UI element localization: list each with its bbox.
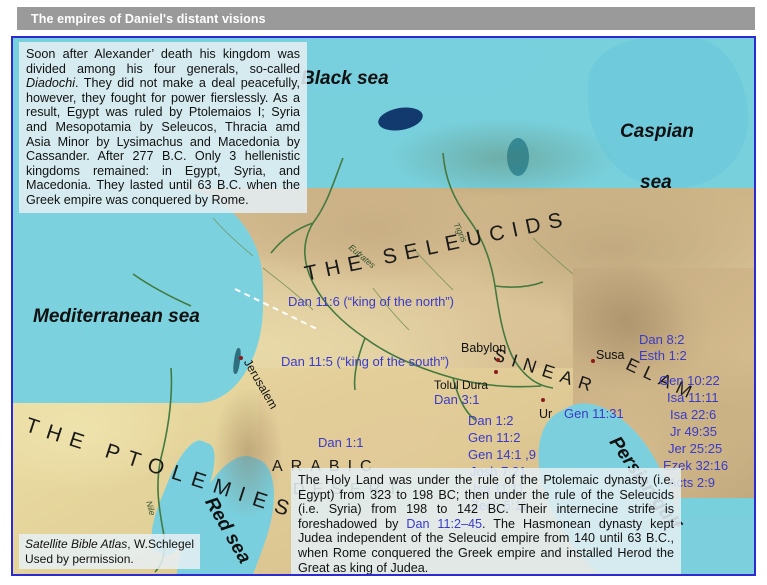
label-city-babylon: Babylon [461, 341, 506, 355]
label-caspian-sea: Caspian [620, 121, 694, 143]
window-titlebar: The empires of Daniel's distant visions [17, 7, 755, 30]
window-title: The empires of Daniel's distant visions [17, 12, 266, 26]
label-city-ur: Ur [539, 407, 552, 421]
map-canvas: Black sea Caspian sea Mediterranean sea … [13, 38, 754, 574]
map-credit-line2: Used by permission. [25, 552, 194, 567]
ref-elam-4: Jer 25:25 [668, 441, 722, 456]
infobox-holy-land: The Holy Land was under the rule of the … [291, 468, 681, 574]
terrain-taurus-shading [343, 98, 663, 218]
ref-sinear-1: Gen 11:2 [468, 430, 521, 445]
infobox-diadochi-text-2: . They did not make a deal peacefully, h… [26, 76, 300, 207]
ref-elam-1: Isa 11:11 [667, 390, 719, 405]
city-dot-ur [541, 398, 545, 402]
map-credit: Satellite Bible Atlas, W.Schlegel Used b… [19, 534, 200, 569]
infobox-diadochi: Soon after Alexander’ death his kingdom … [19, 42, 307, 213]
ref-sinear-0: Dan 1:2 [468, 413, 514, 428]
label-place-tolul-dura: Tolul Dura [434, 378, 488, 392]
map-credit-line1: Satellite Bible Atlas, W.Schlegel [25, 537, 194, 552]
ref-elam-3: Jr 49:35 [670, 424, 717, 439]
ref-elam-2: Isa 22:6 [670, 407, 716, 422]
ref-sinear-2: Gen 14:1 ,9 [468, 447, 536, 462]
ref-tolul-dura: Dan 3:1 [434, 392, 480, 407]
map-frame: Black sea Caspian sea Mediterranean sea … [11, 36, 756, 576]
ref-king-of-the-south: Dan 11:5 (“king of the south”) [281, 354, 449, 369]
label-city-susa: Susa [596, 348, 625, 362]
map-credit-source: Satellite Bible Atlas [25, 537, 127, 551]
city-dot-babylon-2 [494, 370, 498, 374]
label-mediterranean-sea: Mediterranean sea [33, 306, 200, 328]
label-black-sea: Black sea [301, 68, 389, 90]
infobox-holy-land-reference: Dan 11:2–45 [406, 517, 482, 531]
map-credit-author: , W.Schlegel [127, 537, 194, 551]
ref-egypt-dan-1-1: Dan 1:1 [318, 435, 364, 450]
ref-king-of-the-north: Dan 11:6 (“king of the north”) [288, 294, 454, 309]
ref-elam-0: Gen 10:22 [659, 373, 720, 388]
label-caspian-sea-line2: sea [640, 172, 672, 194]
ref-ur-gen-11-31: Gen 11:31 [564, 406, 624, 421]
city-dot-babylon [496, 358, 500, 362]
city-dot-jerusalem [239, 356, 243, 360]
city-dot-susa [591, 359, 595, 363]
ref-susa-0: Dan 8:2 [639, 332, 685, 347]
infobox-diadochi-emphasis: Diadochi [26, 76, 75, 90]
infobox-diadochi-text-1: Soon after Alexander’ death his kingdom … [26, 47, 300, 76]
ref-susa-1: Esth 1:2 [639, 348, 687, 363]
page-root: The empires of Daniel's distant visions [0, 0, 767, 585]
